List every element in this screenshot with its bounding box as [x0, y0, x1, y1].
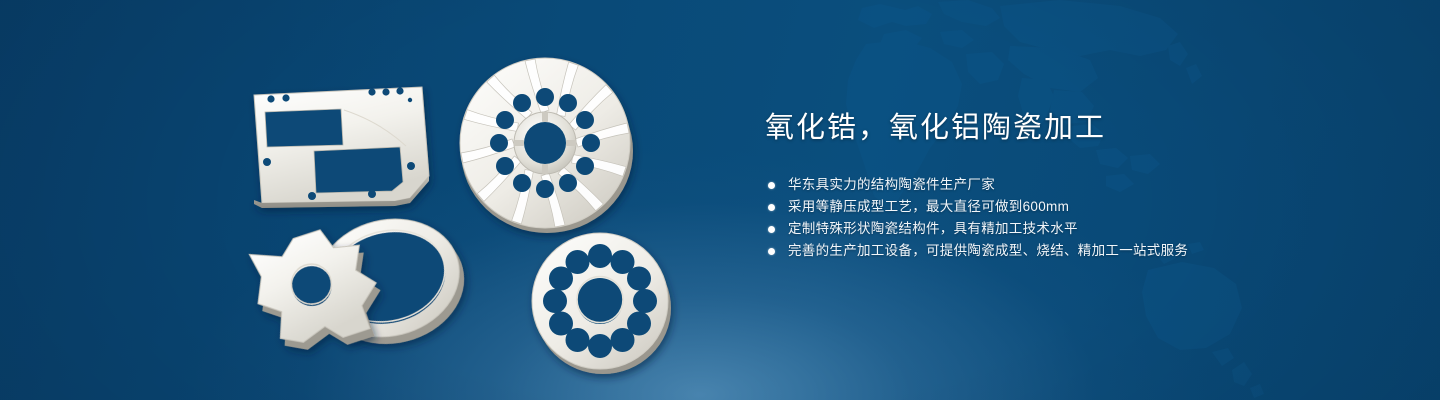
banner-content: 氧化锆，氧化铝陶瓷加工 华东具实力的结构陶瓷件生产厂家 采用等静压成型工艺，最大…: [765, 108, 1405, 262]
bullet-dot-icon: [768, 248, 775, 255]
ceramic-mounting-plate: [254, 87, 429, 208]
list-item: 华东具实力的结构陶瓷件生产厂家: [768, 174, 1405, 196]
ceramic-perforated-disc: [532, 233, 671, 374]
feature-text: 完善的生产加工设备，可提供陶瓷成型、烧结、精加工一站式服务: [788, 240, 1188, 262]
feature-text: 定制特殊形状陶瓷结构件，具有精加工技术水平: [788, 218, 1078, 240]
list-item: 完善的生产加工设备，可提供陶瓷成型、烧结、精加工一站式服务: [768, 240, 1405, 262]
hero-banner: 氧化锆，氧化铝陶瓷加工 华东具实力的结构陶瓷件生产厂家 采用等静压成型工艺，最大…: [0, 0, 1440, 400]
list-item: 采用等静压成型工艺，最大直径可做到600mm: [768, 196, 1405, 218]
bullet-dot-icon: [768, 182, 775, 189]
product-image-collage: [240, 48, 700, 388]
ceramic-vaned-impeller-disc: [460, 58, 633, 233]
bullet-dot-icon: [768, 204, 775, 211]
feature-text: 华东具实力的结构陶瓷件生产厂家: [788, 174, 995, 196]
page-title: 氧化锆，氧化铝陶瓷加工: [765, 108, 1405, 148]
list-item: 定制特殊形状陶瓷结构件，具有精加工技术水平: [768, 218, 1405, 240]
feature-list: 华东具实力的结构陶瓷件生产厂家 采用等静压成型工艺，最大直径可做到600mm 定…: [768, 174, 1405, 262]
bullet-dot-icon: [768, 226, 775, 233]
feature-text: 采用等静压成型工艺，最大直径可做到600mm: [788, 196, 1069, 218]
